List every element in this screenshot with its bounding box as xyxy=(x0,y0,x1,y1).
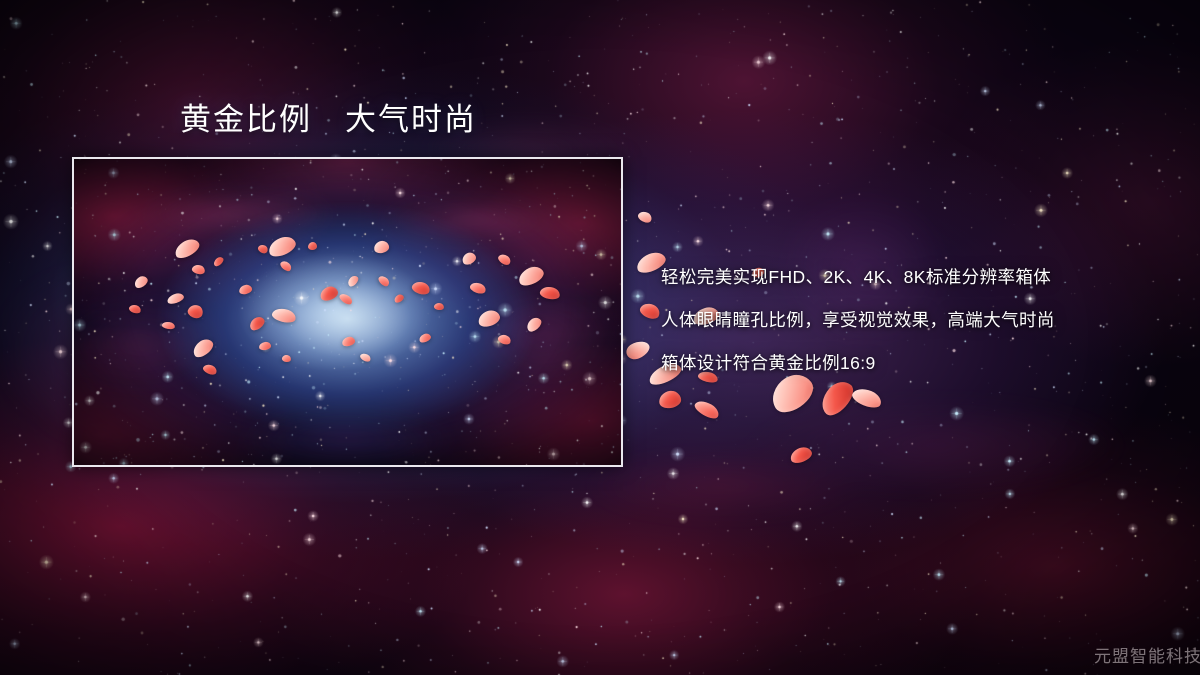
flower-petal xyxy=(788,445,813,466)
petal-shape xyxy=(692,397,721,421)
page-title: 黄金比例 大气时尚 xyxy=(180,100,477,140)
body-line-1: 轻松完美实现FHD、2K、4K、8K标准分辨率箱体 xyxy=(661,256,1181,299)
flower-petal xyxy=(658,390,682,410)
petal-shape xyxy=(788,445,813,466)
frame-inner xyxy=(74,159,621,465)
nebula-photo-frame xyxy=(72,157,623,467)
body-line-2: 人体眼睛瞳孔比例，享受视觉效果，高端大气时尚 xyxy=(661,299,1181,342)
flower-petal xyxy=(624,338,653,363)
body-line-3: 箱体设计符合黄金比例16:9 xyxy=(661,342,1181,385)
flower-petal xyxy=(850,385,884,411)
body-text-block: 轻松完美实现FHD、2K、4K、8K标准分辨率箱体 人体眼睛瞳孔比例，享受视觉效… xyxy=(661,256,1181,385)
watermark: 元盟智能科技 xyxy=(1094,642,1200,667)
flower-petal xyxy=(692,397,721,421)
petal-shape xyxy=(638,301,662,322)
petal-shape xyxy=(636,209,653,224)
flower-petal xyxy=(638,301,662,322)
petal-shape xyxy=(658,390,682,410)
slide-canvas: 黄金比例 大气时尚 轻松完美实现FHD、2K、4K、8K标准分辨率箱体 人体眼睛… xyxy=(0,0,1200,675)
petal-shape xyxy=(850,385,884,411)
petal-shape xyxy=(624,338,653,363)
flower-petal xyxy=(636,209,653,224)
frame-vignette xyxy=(74,159,621,465)
